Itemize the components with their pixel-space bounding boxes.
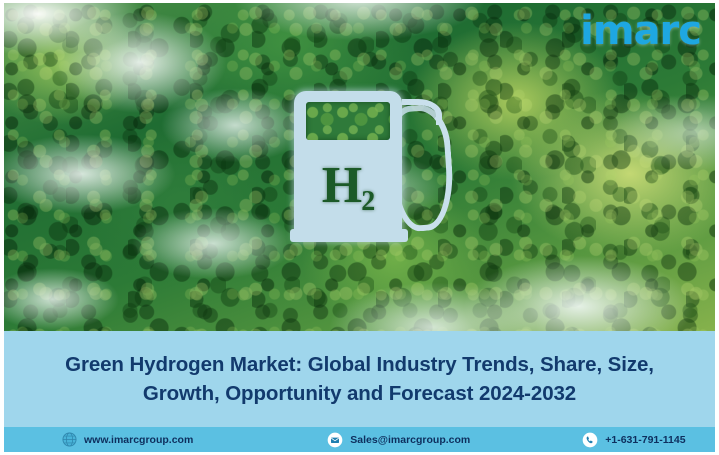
fuel-pump-display-panel bbox=[306, 102, 390, 140]
email-label: Sales@imarcgroup.com bbox=[350, 434, 470, 446]
fuel-pump-body: H2 bbox=[294, 91, 402, 241]
envelope-icon bbox=[327, 432, 343, 448]
globe-icon bbox=[62, 432, 77, 447]
h2-letter: H bbox=[322, 157, 361, 214]
website-label: www.imarcgroup.com bbox=[84, 434, 193, 446]
phone-icon bbox=[582, 432, 598, 448]
page-title: Green Hydrogen Market: Global Industry T… bbox=[30, 350, 690, 408]
contact-footer-bar: www.imarcgroup.com Sales@imarcgroup.com … bbox=[4, 427, 715, 452]
contact-phone[interactable]: +1-631-791-1145 bbox=[582, 432, 685, 448]
fuel-pump-base bbox=[290, 229, 408, 242]
h2-label: H2 bbox=[304, 149, 392, 223]
phone-label: +1-631-791-1145 bbox=[605, 434, 685, 446]
hydrogen-fuel-pump-graphic: H2 bbox=[294, 91, 454, 241]
hero-forest-image: H2 imarc bbox=[4, 3, 715, 331]
imarc-logo[interactable]: imarc bbox=[580, 11, 701, 51]
title-band: Green Hydrogen Market: Global Industry T… bbox=[4, 331, 715, 427]
contact-website[interactable]: www.imarcgroup.com bbox=[62, 432, 193, 447]
h2-subscript: 2 bbox=[361, 186, 374, 217]
contact-email[interactable]: Sales@imarcgroup.com bbox=[327, 432, 470, 448]
report-cover-poster: H2 imarc Green Hydrogen Market: Global I… bbox=[0, 0, 719, 455]
